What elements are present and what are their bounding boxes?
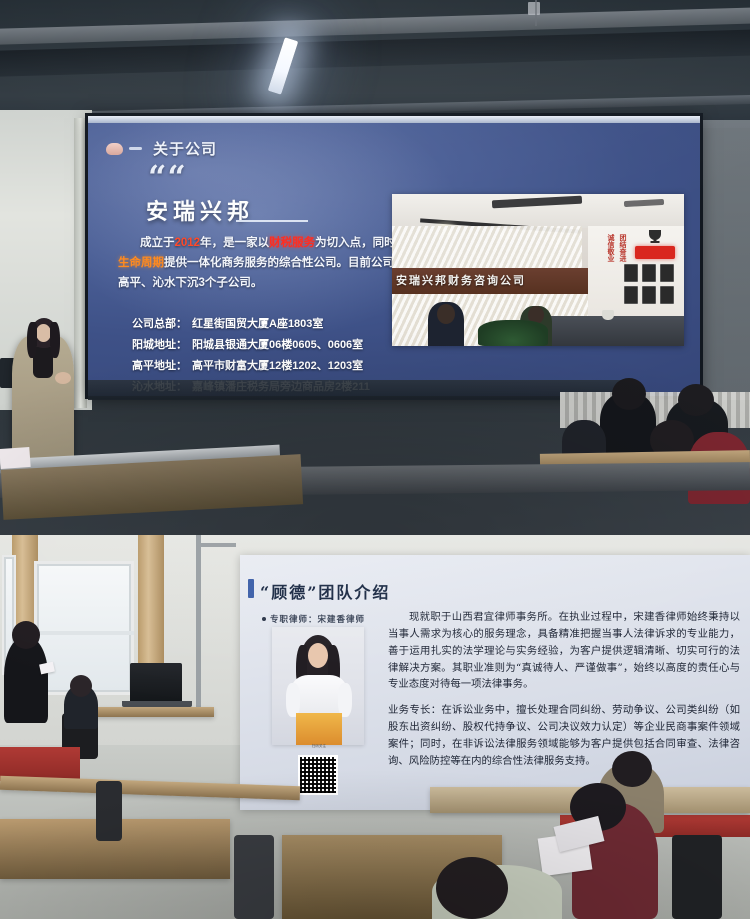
- slide-header: 关于公司: [106, 138, 217, 159]
- portrait-arm-left: [286, 683, 300, 717]
- award-frame: [642, 264, 656, 282]
- screenshot-stage: 关于公司 ““ 安瑞兴邦 成立于2012年，是一家以财税服务为切入点，同时为企业…: [0, 0, 750, 919]
- title-accent-bar: [248, 579, 254, 598]
- slide-header-label: 关于公司: [153, 138, 217, 159]
- ceiling: [0, 0, 750, 128]
- classroom-photo: “顾德”团队介绍 专职律师：宋建香律师 扫码关注 现就职于山西君宜律师事: [0, 535, 750, 919]
- award-frame: [624, 286, 638, 304]
- address-label: 阳城地址：: [132, 335, 187, 356]
- lawyer-description: 现就职于山西君宜律师事务所。在执业过程中，宋建香律师始终秉持以当事人需求为核心的…: [388, 609, 740, 770]
- portrait-face: [308, 643, 328, 668]
- address-label: 公司总部：: [132, 314, 187, 335]
- wall-badge: [635, 246, 675, 259]
- presenter-hair-right: [50, 322, 60, 358]
- award-frame: [624, 264, 638, 282]
- award-frames: [624, 264, 682, 308]
- paper-sheet: [0, 447, 31, 469]
- slide-title: “顾德”团队介绍: [260, 579, 390, 603]
- standing-person-head: [12, 621, 40, 649]
- portrait-arm-right: [338, 683, 352, 717]
- highlight-tax-service: 财税服务: [269, 237, 315, 249]
- presenter-hand: [55, 372, 71, 384]
- attendee-1-head: [612, 378, 646, 410]
- dash-icon: [129, 147, 142, 150]
- ceiling-fixture: [528, 2, 540, 15]
- standing-person-body: [4, 637, 48, 723]
- attendee-front-head: [436, 857, 508, 919]
- left-wall-edge: [74, 118, 87, 408]
- presenter-hair-left: [27, 322, 37, 358]
- attendee-back-head: [612, 751, 652, 787]
- projection-screen-upper: 关于公司 ““ 安瑞兴邦 成立于2012年，是一家以财税服务为切入点，同时为企业…: [88, 116, 700, 396]
- presenter-face: [36, 324, 51, 342]
- address-value: 高平市财富大厦12楼1202、1203室: [192, 356, 363, 377]
- operator-head: [70, 675, 92, 697]
- bookmark-icon: [106, 143, 123, 155]
- award-frame: [660, 264, 674, 282]
- wall-vertical-text-2: 团结奋进: [618, 234, 627, 262]
- wall-vertical-text-1: 诚信敬业: [606, 234, 615, 262]
- desk-plant: [478, 320, 548, 346]
- laptop-screen: [130, 663, 182, 701]
- qr-caption: 扫码关注: [284, 743, 354, 748]
- operator-desk: [86, 707, 214, 717]
- intro-part2: 年，是一家以: [200, 237, 269, 249]
- qr-code-pattern: [300, 757, 336, 793]
- intro-part1: 成立于: [140, 237, 175, 249]
- projection-screen-lower: “顾德”团队介绍 专职律师：宋建香律师 扫码关注 现就职于山西君宜律师事: [240, 555, 750, 810]
- brand-underline: [236, 220, 308, 222]
- address-row: 高平地址： 高平市财富大厦12楼1202、1203室: [132, 356, 472, 377]
- seminar-hall-photo: 关于公司 ““ 安瑞兴邦 成立于2012年，是一家以财税服务为切入点，同时为企业…: [0, 0, 750, 535]
- lawyer-bullet: 专职律师：宋建香律师: [262, 613, 365, 625]
- address-value: 阳城县银通大厦06楼0605、0606室: [192, 335, 363, 356]
- award-frame: [660, 286, 674, 304]
- office-photo: 安瑞兴邦财务咨询公司 诚信敬业 团结奋进: [392, 194, 684, 346]
- company-sign-text: 安瑞兴邦财务咨询公司: [396, 272, 592, 288]
- quote-mark-icon: ““: [148, 166, 187, 188]
- classroom-chair-2: [234, 835, 274, 919]
- award-frame: [642, 286, 656, 304]
- address-value: 红星街国贸大厦A座1803室: [192, 314, 323, 335]
- classroom-chair-3: [672, 835, 722, 919]
- bullet-dot-icon: [262, 617, 266, 621]
- portrait-skirt: [296, 713, 342, 745]
- classroom-chair-1: [96, 781, 122, 841]
- wall-pipe-horizontal: [196, 543, 236, 547]
- office-staff-1-head: [437, 304, 455, 324]
- window-mullion: [34, 631, 134, 635]
- attendee-2-head: [678, 384, 714, 416]
- founding-year: 2012: [175, 237, 201, 249]
- desk-cup: [602, 310, 614, 320]
- trophy-icon: [644, 228, 666, 244]
- wall-pipe-vertical: [196, 535, 201, 715]
- lawyer-portrait: [272, 627, 364, 745]
- lawyer-paragraph-2: 业务专长：在诉讼业务中，擅长处理合同纠纷、劳动争议、公司类纠纷（如股东出资纠纷、…: [388, 702, 740, 769]
- qr-code: [298, 755, 338, 795]
- wall-panel-behind-audience: [88, 380, 628, 400]
- lawyer-paragraph-1: 现就职于山西君宜律师事务所。在执业过程中，宋建香律师始终秉持以当事人需求为核心的…: [388, 609, 740, 693]
- lawyer-bullet-label: 专职律师：宋建香律师: [270, 613, 365, 625]
- ceiling-cable: [535, 0, 537, 26]
- address-label: 高平地址：: [132, 356, 187, 377]
